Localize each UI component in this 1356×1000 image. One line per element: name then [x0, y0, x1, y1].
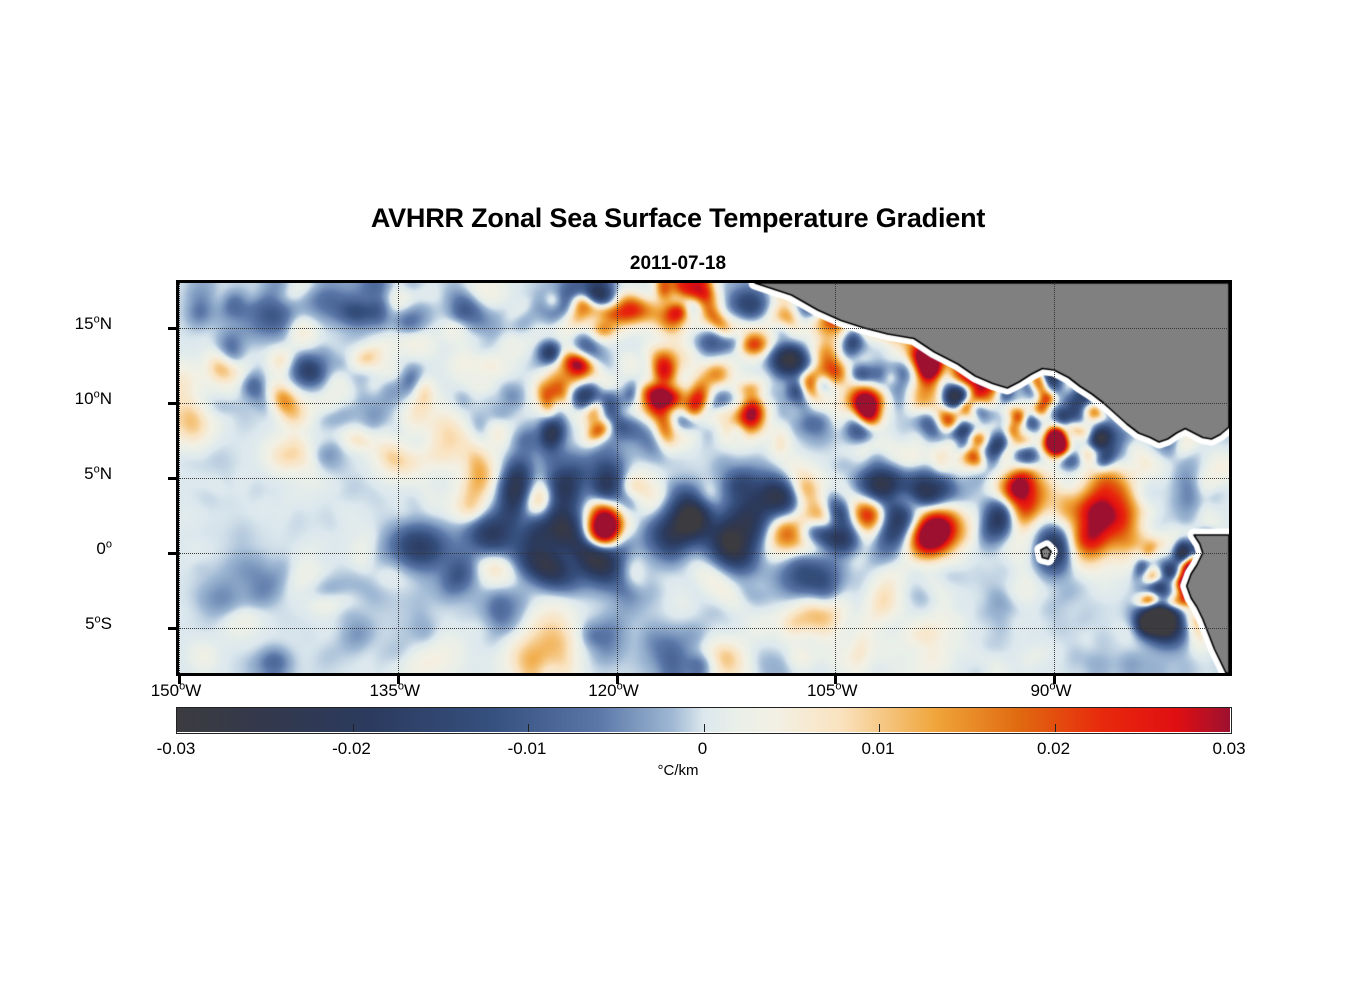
- map-axes: [176, 280, 1232, 676]
- page-title: AVHRR Zonal Sea Surface Temperature Grad…: [0, 203, 1356, 234]
- gridline-lat: [179, 553, 1229, 554]
- colorbar-tick-label: -0.03: [126, 739, 226, 759]
- colorbar-tick-label: -0.02: [302, 739, 402, 759]
- colorbar-tick-label: 0.03: [1179, 739, 1279, 759]
- y-tick-label: 0o: [96, 539, 112, 559]
- colorbar-tick-label: 0.01: [828, 739, 928, 759]
- colorbar-tick: [353, 724, 354, 732]
- colorbar: [176, 707, 1232, 734]
- colorbar-tick: [704, 724, 705, 732]
- x-tick-label: 90oW: [991, 681, 1111, 701]
- x-tick-label: 105oW: [772, 681, 892, 701]
- figure-root: AVHRR Zonal Sea Surface Temperature Grad…: [0, 0, 1356, 1000]
- y-tick-label: 15oN: [75, 314, 112, 334]
- gridline-lat: [179, 403, 1229, 404]
- tick-lat: [168, 552, 179, 555]
- y-tick-label: 5oN: [84, 464, 112, 484]
- colorbar-tick: [879, 724, 880, 732]
- gridline-lon: [835, 283, 836, 673]
- tick-lat: [168, 627, 179, 630]
- gridline-lon: [179, 283, 180, 673]
- colorbar-tick-label: 0.02: [1004, 739, 1104, 759]
- x-tick-label: 135oW: [335, 681, 455, 701]
- gridline-lat: [179, 478, 1229, 479]
- colorbar-tick-label: 0: [653, 739, 753, 759]
- gridline-lon: [617, 283, 618, 673]
- tick-lat: [168, 402, 179, 405]
- x-tick-label: 120oW: [554, 681, 674, 701]
- tick-lat: [168, 327, 179, 330]
- tick-lat: [168, 477, 179, 480]
- x-tick-label: 150oW: [116, 681, 236, 701]
- colorbar-tick: [528, 724, 529, 732]
- y-tick-label: 10oN: [75, 389, 112, 409]
- colorbar-tick: [1055, 724, 1056, 732]
- figure-subtitle: 2011-07-18: [0, 253, 1356, 275]
- colorbar-tick-label: -0.01: [477, 739, 577, 759]
- gridline-lat: [179, 328, 1229, 329]
- colorbar-unit-label: °C/km: [0, 762, 1356, 779]
- gridline-lon: [1054, 283, 1055, 673]
- gridline-lat: [179, 628, 1229, 629]
- y-tick-label: 5oS: [85, 614, 112, 634]
- gridline-lon: [398, 283, 399, 673]
